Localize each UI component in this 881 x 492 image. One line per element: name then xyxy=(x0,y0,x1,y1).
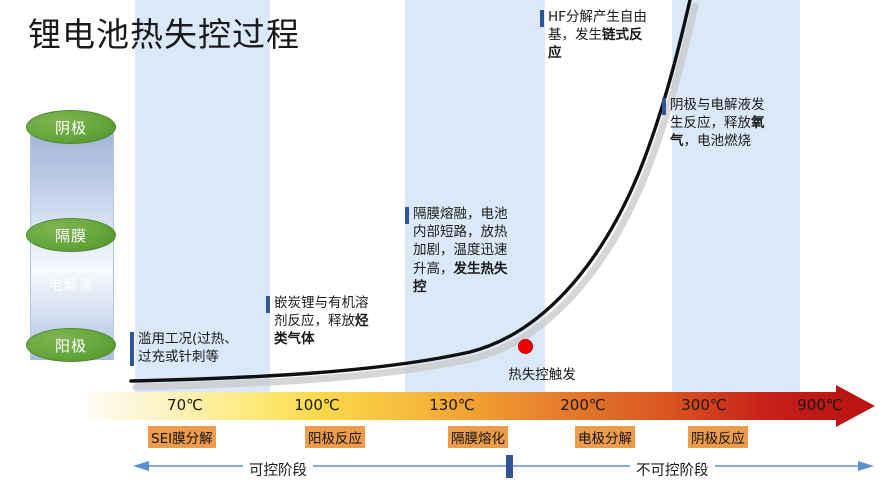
callout-bar-icon xyxy=(266,296,270,313)
callout-bar-icon xyxy=(405,207,409,224)
annotation-cathode-electrolyte: 阴极与电解液发生反应，释放氧气，电池燃烧 xyxy=(662,96,774,151)
annotation-lithium-solvent-text: 嵌炭锂与有机溶剂反应，释放烃类气体 xyxy=(274,294,370,349)
cathode-layer: 阴极 xyxy=(26,110,116,144)
page-title: 锂电池热失控过程 xyxy=(28,8,300,56)
annotation-separator-melt-text: 隔膜熔融，电池内部短路，放热加剧，温度迅速升高，发生热失控 xyxy=(413,205,517,296)
temp-tick-130: 130℃ xyxy=(412,396,492,414)
annotation-lithium-solvent: 嵌炭锂与有机溶剂反应，释放烃类气体 xyxy=(266,294,370,349)
annotation-abuse-text: 滥用工况(过热、过充或针刺等 xyxy=(138,330,238,366)
stage-chip-anode: 阳极反应 xyxy=(305,426,365,448)
callout-bar-icon xyxy=(662,98,666,115)
thermal-runaway-trigger-dot xyxy=(518,339,533,354)
temp-tick-200: 200℃ xyxy=(543,396,623,414)
callout-bar-icon xyxy=(130,332,134,366)
thermal-runaway-trigger-label: 热失控触发 xyxy=(486,363,598,383)
phase-uncontrollable-label: 不可控阶段 xyxy=(630,459,715,480)
annotation-hf-chain: HF分解产生自由基，发生链式反应 xyxy=(540,8,650,63)
background-band-3 xyxy=(672,0,800,392)
battery-cell-diagram: 电解液 电解液 阴极 隔膜 阳极 xyxy=(22,110,120,375)
temp-tick-100: 100℃ xyxy=(277,396,357,414)
stage-chip-cathode: 阴极反应 xyxy=(688,426,748,448)
anode-layer: 阳极 xyxy=(26,328,116,362)
separator-layer: 隔膜 xyxy=(26,218,116,252)
electrolyte-upper-label: 电解液 xyxy=(30,275,112,295)
phase-indicator xyxy=(0,452,881,492)
temp-tick-300: 300℃ xyxy=(664,396,744,414)
background-band-2 xyxy=(405,0,545,392)
diagram-canvas: 锂电池热失控过程 电解液 电解液 阴极 隔膜 阳极 滥用工况(过热、过充或针刺等… xyxy=(0,0,881,492)
stage-chip-electrode: 电极分解 xyxy=(575,426,635,448)
annotation-separator-melt: 隔膜熔融，电池内部短路，放热加剧，温度迅速升高，发生热失控 xyxy=(405,205,517,296)
stage-chip-separator: 隔膜熔化 xyxy=(448,426,508,448)
temp-tick-900: 900℃ xyxy=(780,396,860,414)
temp-tick-70: 70℃ xyxy=(145,396,225,414)
stage-chip-sei: SEI膜分解 xyxy=(148,426,216,448)
annotation-abuse: 滥用工况(过热、过充或针刺等 xyxy=(130,330,238,366)
phase-controllable-label: 可控阶段 xyxy=(243,459,313,480)
callout-bar-icon xyxy=(540,10,544,27)
annotation-cathode-electrolyte-text: 阴极与电解液发生反应，释放氧气，电池燃烧 xyxy=(670,96,774,151)
annotation-hf-chain-text: HF分解产生自由基，发生链式反应 xyxy=(548,8,650,63)
